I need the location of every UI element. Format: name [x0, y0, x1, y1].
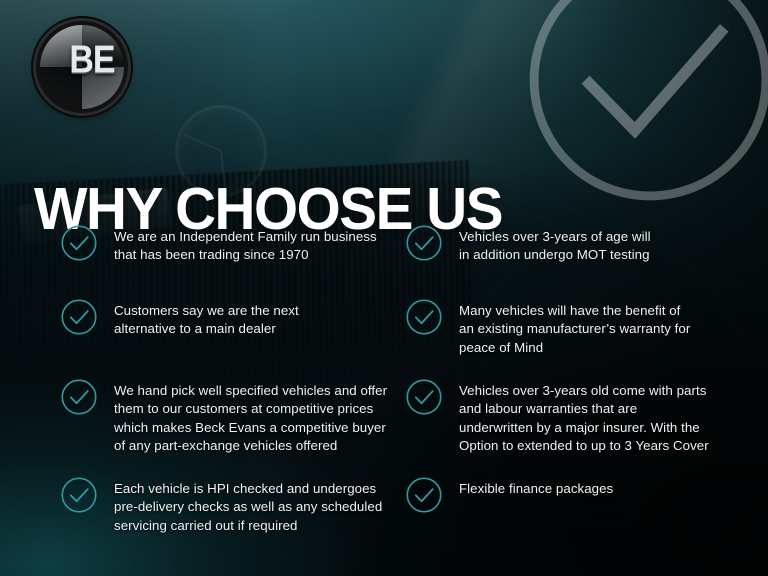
benefit-item-line: them to our customers at competitive pri…: [114, 400, 387, 418]
benefit-item-line: alternative to a main dealer: [114, 320, 299, 338]
check-circle-icon: [60, 224, 98, 262]
benefit-item-alternative-to-main-dealer: Customers say we are the nextalternative…: [60, 296, 299, 339]
benefit-item-text: We are an Independent Family run busines…: [114, 222, 377, 265]
benefit-item-line: Option to extended to up to 3 Years Cove…: [459, 437, 709, 455]
benefit-item-line: and labour warranties that are: [459, 400, 709, 418]
benefit-item-mot-testing: Vehicles over 3-years of age willin addi…: [405, 222, 651, 265]
benefit-item-line: Vehicles over 3-years of age will: [459, 228, 651, 246]
benefit-item-text: Vehicles over 3-years of age willin addi…: [459, 222, 651, 265]
benefit-item-line: Customers say we are the next: [114, 302, 299, 320]
benefit-item-line: We hand pick well specified vehicles and…: [114, 382, 387, 400]
benefit-item-hpi-checked: Each vehicle is HPI checked and undergoe…: [60, 474, 382, 535]
benefit-item-independent-family-business: We are an Independent Family run busines…: [60, 222, 377, 265]
benefit-item-line: underwritten by a major insurer. With th…: [459, 419, 709, 437]
benefit-item-line: peace of Mind: [459, 339, 690, 357]
benefit-item-line: that has been trading since 1970: [114, 246, 377, 264]
check-circle-icon: [60, 298, 98, 336]
benefit-item-text: Each vehicle is HPI checked and undergoe…: [114, 474, 382, 535]
benefit-item-line: which makes Beck Evans a competitive buy…: [114, 419, 387, 437]
benefit-item-text: Customers say we are the nextalternative…: [114, 296, 299, 339]
logo-initials: BE: [46, 40, 128, 79]
why-choose-us-slide: BE WHY CHOOSE US We are an Independent F…: [0, 0, 768, 576]
benefit-item-text: We hand pick well specified vehicles and…: [114, 376, 387, 456]
benefit-item-manufacturer-warranty: Many vehicles will have the benefit ofan…: [405, 296, 690, 357]
benefit-item-parts-labour-warranty: Vehicles over 3-years old come with part…: [405, 376, 709, 456]
benefit-item-line: Flexible finance packages: [459, 480, 613, 498]
benefit-item-text: Flexible finance packages: [459, 474, 613, 498]
benefit-item-line: pre-delivery checks as well as any sched…: [114, 498, 382, 516]
brand-logo-badge: BE: [36, 21, 128, 113]
check-circle-icon: [60, 378, 98, 416]
benefit-item-line: Many vehicles will have the benefit of: [459, 302, 690, 320]
benefit-item-line: in addition undergo MOT testing: [459, 246, 651, 264]
benefit-item-text: Vehicles over 3-years old come with part…: [459, 376, 709, 456]
benefit-item-hand-picked-vehicles: We hand pick well specified vehicles and…: [60, 376, 387, 456]
benefit-item-line: servicing carried out if required: [114, 517, 382, 535]
benefit-item-line: Each vehicle is HPI checked and undergoe…: [114, 480, 382, 498]
benefit-item-line: of any part-exchange vehicles offered: [114, 437, 387, 455]
check-circle-icon: [405, 476, 443, 514]
benefit-item-line: We are an Independent Family run busines…: [114, 228, 377, 246]
benefit-item-text: Many vehicles will have the benefit ofan…: [459, 296, 690, 357]
benefit-item-flexible-finance: Flexible finance packages: [405, 474, 613, 514]
check-circle-icon: [405, 298, 443, 336]
benefit-item-line: Vehicles over 3-years old come with part…: [459, 382, 709, 400]
check-circle-icon: [60, 476, 98, 514]
check-circle-icon: [405, 378, 443, 416]
check-circle-icon: [405, 224, 443, 262]
benefit-item-line: an existing manufacturer’s warranty for: [459, 320, 690, 338]
